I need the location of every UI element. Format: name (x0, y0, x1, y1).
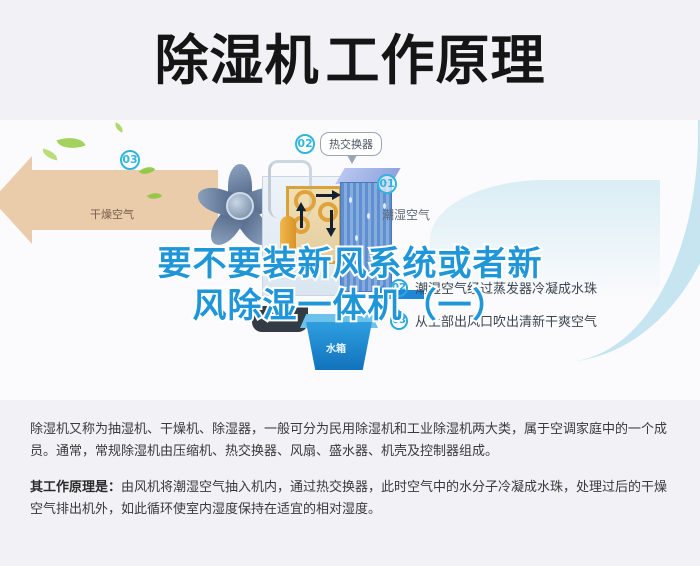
step-text: 潮湿空气经过蒸发器冷凝成水珠 (415, 278, 597, 297)
article-body: 除湿机又称为抽湿机、干燥机、除湿器，一般可分为民用除湿机和工业除湿机两大类，属于… (30, 418, 678, 534)
page-title-text: 除湿机工作原理 (155, 30, 546, 92)
flow-arrow-stem (316, 194, 332, 197)
step-text: 从上部出风口吹出清新干爽空气 (415, 311, 597, 330)
page-title: 除湿机工作原理 (0, 30, 700, 92)
body-paragraph-2: 其工作原理是：由风机将潮湿空气抽入机内，通过热交换器，此时空气中的水分子冷凝成水… (30, 476, 678, 520)
body-paragraph-2-rest: 由风机将潮湿空气抽入机内，通过热交换器，此时空气中的水分子冷凝成水珠，处理过后的… (30, 479, 667, 516)
fan-hub (226, 192, 254, 220)
copper-coil (318, 202, 338, 222)
step-number: 02 (390, 279, 408, 297)
flow-arrow-stem (330, 210, 333, 228)
flow-up-arrow-icon (296, 202, 306, 211)
list-item: 03 从上部出风口吹出清新干爽空气 (390, 311, 597, 330)
water-droplet-icon (349, 197, 352, 203)
list-item: 02 潮湿空气经过蒸发器冷凝成水珠 (390, 278, 597, 297)
water-tank-label: 水箱 (326, 340, 346, 355)
compressor-cylinder (280, 216, 296, 258)
heat-exchanger-callout: 热交换器 (320, 132, 382, 156)
step-list: 02 潮湿空气经过蒸发器冷凝成水珠 03 从上部出风口吹出清新干爽空气 (390, 278, 597, 344)
flow-arrow-stem (300, 210, 303, 228)
heat-exchanger-fins (340, 182, 392, 292)
page-root: 除湿机工作原理 干燥空气 03 (0, 0, 700, 566)
water-droplet-icon (361, 271, 364, 277)
badge-02-heat-exchanger: 02 (295, 134, 315, 154)
water-droplet-icon (367, 213, 370, 219)
flow-down-arrow-icon (326, 228, 336, 237)
water-droplet-icon (377, 251, 380, 257)
body-paragraph-2-lead: 其工作原理是： (30, 479, 121, 494)
badge-01-humid-air: 01 (377, 174, 397, 194)
dry-air-label: 干燥空气 (90, 206, 134, 222)
body-paragraph-1: 除湿机又称为抽湿机、干燥机、除湿器，一般可分为民用除湿机和工业除湿机两大类，属于… (30, 418, 678, 462)
title-part-2: 工作原理 (326, 29, 546, 92)
water-droplet-icon (355, 235, 358, 241)
title-part-1: 除湿机 (155, 29, 320, 92)
humid-air-label: 潮湿空气 (382, 206, 430, 223)
step-number: 03 (390, 312, 408, 330)
badge-03-dry-air: 03 (120, 150, 140, 170)
water-tank: 水箱 (296, 314, 382, 376)
dehumidifier-diagram: 干燥空气 03 (0, 120, 700, 400)
dry-air-arrow: 干燥空气 (28, 170, 218, 230)
